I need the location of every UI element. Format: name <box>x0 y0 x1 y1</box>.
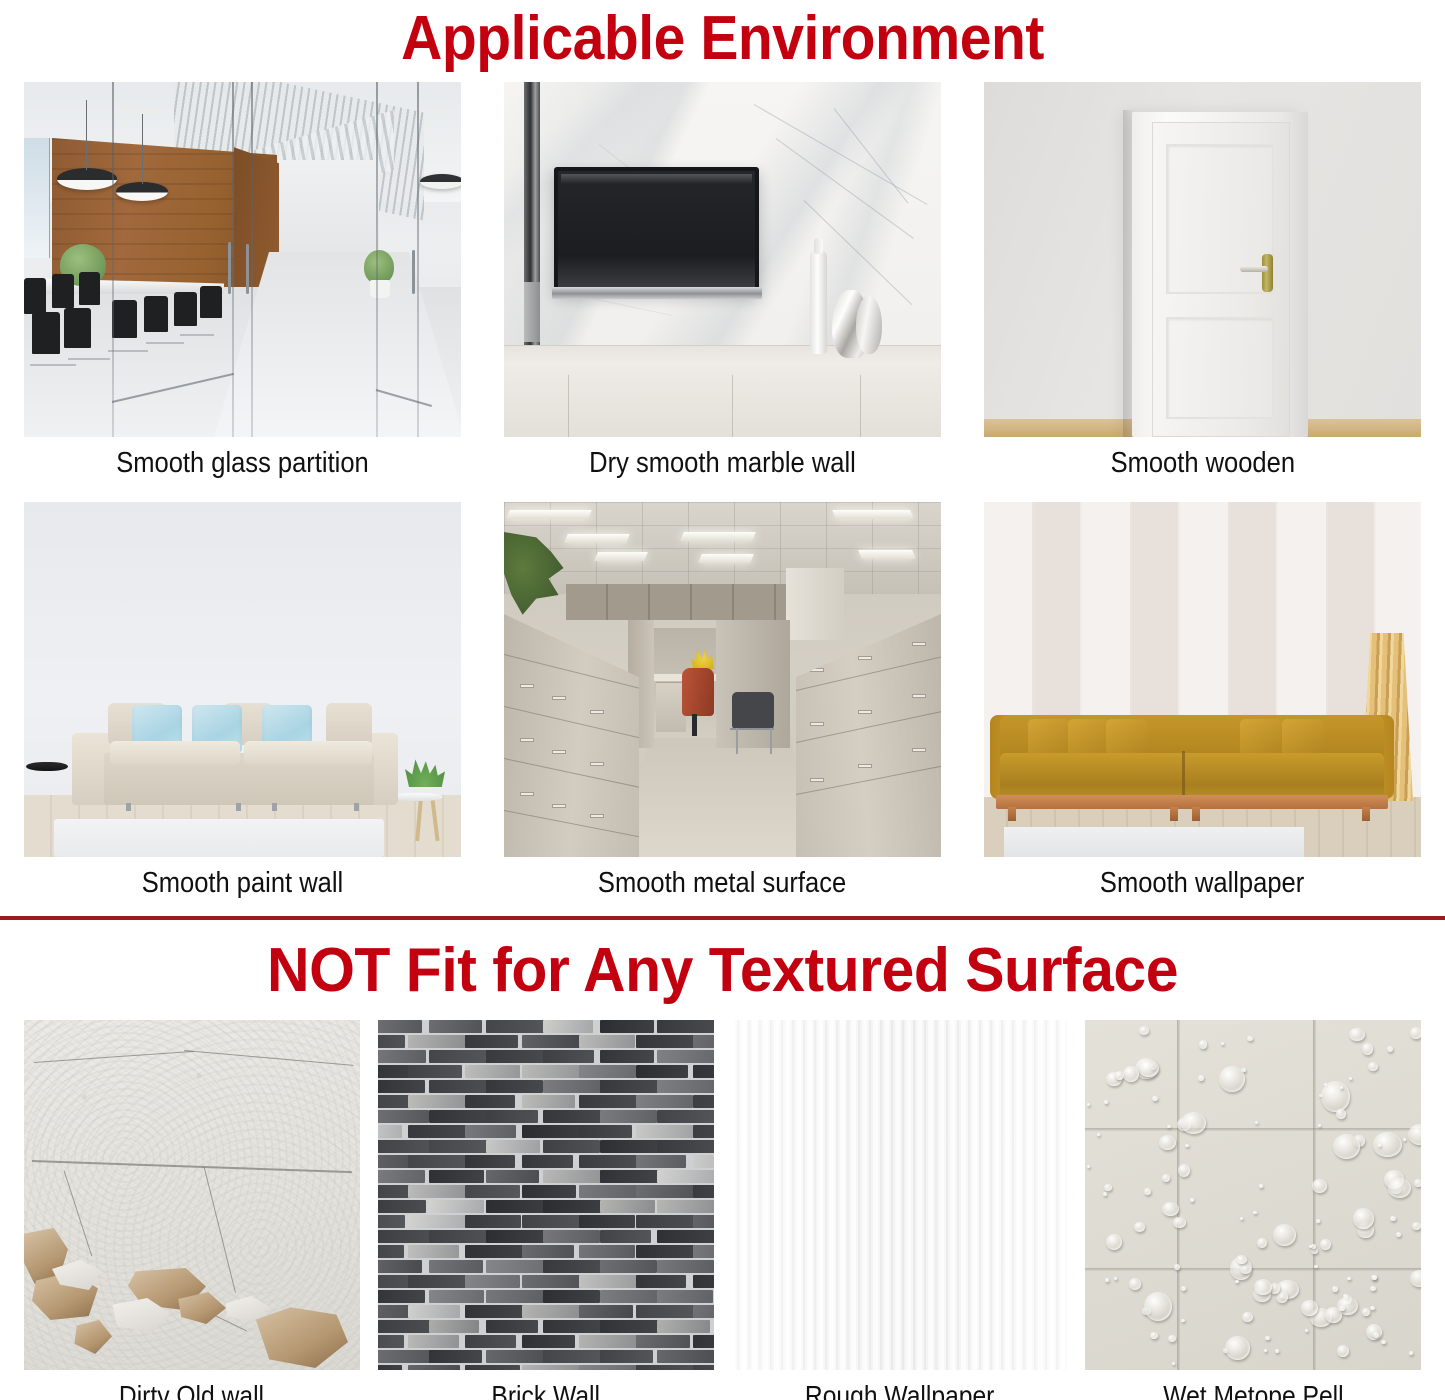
applicable-row-2: Smooth paint wall <box>0 502 1445 900</box>
wall-mounted-tv <box>554 167 759 292</box>
caption-smooth-glass-partition: Smooth glass partition <box>116 446 369 480</box>
tile-smooth-paint-wall: Smooth paint wall <box>24 502 461 900</box>
caption-smooth-paint-wall: Smooth paint wall <box>142 866 343 900</box>
tile-brick-wall: Brick Wall <box>378 1020 714 1400</box>
caption-dirty-old-wall: Dirty Old wall <box>119 1379 264 1400</box>
photo-painted-wall-with-beige-sofa <box>24 502 461 857</box>
photo-water-droplets-on-tiled-wall <box>1085 1020 1421 1370</box>
applicable-row-1: Smooth glass partition <box>0 82 1445 480</box>
photo-white-wooden-door <box>984 82 1421 437</box>
caption-smooth-metal-surface: Smooth metal surface <box>598 866 846 900</box>
tile-smooth-wallpaper: Smooth wallpaper <box>984 502 1421 900</box>
caption-brick-wall: Brick Wall <box>491 1379 600 1400</box>
tile-dirty-old-wall: Dirty Old wall <box>24 1020 360 1400</box>
tile-smooth-wooden: Smooth wooden <box>984 82 1421 480</box>
photo-marble-wall-with-tv <box>504 82 941 437</box>
section-title-not-fit: NOT Fit for Any Textured Surface <box>36 934 1409 1008</box>
tile-dry-smooth-marble-wall: Dry smooth marble wall <box>504 82 941 480</box>
caption-smooth-wooden: Smooth wooden <box>1110 446 1294 480</box>
tile-rough-wallpaper: Rough Wallpaper <box>732 1020 1068 1400</box>
photo-cracked-peeling-plaster-wall <box>24 1020 360 1370</box>
tile-smooth-glass-partition: Smooth glass partition <box>24 82 461 480</box>
caption-rough-wallpaper: Rough Wallpaper <box>805 1379 994 1400</box>
photo-office-glass-partition-corridor <box>24 82 461 437</box>
infographic-page: Applicable Environment <box>0 0 1445 1400</box>
not-fit-row: Dirty Old wall Brick Wall Rough Wallpape… <box>0 1020 1445 1400</box>
door-lever-handle <box>1240 266 1268 272</box>
tile-wet-metope-pell: Wet Metope Pell <box>1085 1020 1421 1400</box>
caption-dry-smooth-marble-wall: Dry smooth marble wall <box>589 446 856 480</box>
photo-office-metal-cubicles <box>504 502 941 857</box>
door-handle-plate <box>1262 254 1273 292</box>
caption-smooth-wallpaper: Smooth wallpaper <box>1100 866 1304 900</box>
caption-wet-metope-pell: Wet Metope Pell <box>1163 1379 1343 1400</box>
section-title-applicable: Applicable Environment <box>58 0 1387 76</box>
photo-vertical-ribbed-white-wallpaper <box>732 1020 1068 1370</box>
section-divider <box>0 916 1445 920</box>
tile-smooth-metal-surface: Smooth metal surface <box>504 502 941 900</box>
photo-striped-wallpaper-with-mustard-sofa <box>984 502 1421 857</box>
photo-dark-grey-brick-wall <box>378 1020 714 1370</box>
